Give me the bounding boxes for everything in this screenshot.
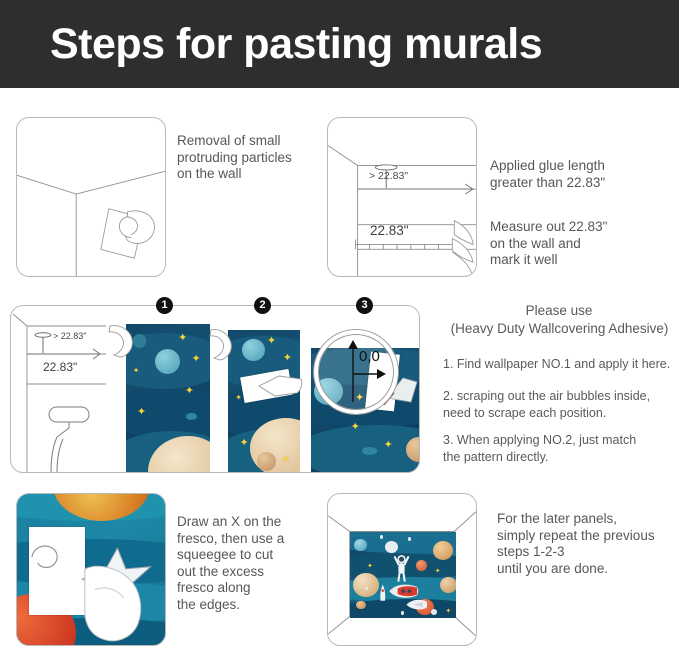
- measure-length-label-2: 22.83": [43, 359, 77, 376]
- instruction-item-2: 2. scraping out the air bubbles inside, …: [443, 388, 679, 421]
- instruction-item-1: 1. Find wallpaper NO.1 and apply it here…: [443, 356, 679, 373]
- instructions-heading-line2: (Heavy Duty Wallcovering Adhesive): [440, 321, 679, 338]
- min-length-label: > 22.83": [369, 168, 408, 185]
- panel-application-sequence: > 22.83" 22.83" ✦ ✦ ✦ ✦ ✦: [10, 305, 420, 473]
- header-bar: Steps for pasting murals: [0, 0, 679, 88]
- panel-finished-room: ✦ ✦ ✦: [327, 493, 477, 646]
- step-badge-3: 3: [356, 297, 373, 314]
- wall-measure-illustration: [328, 118, 476, 276]
- paint-roller-icon: [49, 407, 89, 472]
- astronaut-icon: [392, 553, 411, 584]
- panel-measuring: > 22.83" 22.83": [327, 117, 477, 277]
- mural-strip-2: ✦ ✦ ✦ ✦ ✦: [228, 330, 300, 472]
- origin-axes-icon: [314, 330, 392, 408]
- hand-icon-4: [76, 563, 159, 645]
- paper-curl-icon: [452, 221, 473, 274]
- instruction-sheet: Steps for pasting murals Removal of smal…: [0, 0, 679, 652]
- instructions-heading-line1: Please use: [443, 303, 675, 320]
- caption-measure-mark: Measure out 22.83" on the wall and mark …: [490, 219, 675, 269]
- room-mural-art: ✦ ✦ ✦: [350, 532, 456, 618]
- ruler-icon: [356, 239, 459, 249]
- caption-trim: Draw an X on the fresco, then use a sque…: [177, 514, 327, 613]
- caption-glue-length: Applied glue length greater than 22.83": [490, 158, 675, 191]
- t-marker-icon: [35, 333, 51, 353]
- wall-corner-illustration: [17, 118, 165, 276]
- mini-rocket-icon: [378, 584, 388, 603]
- page-title: Steps for pasting murals: [50, 17, 542, 71]
- instruction-item-3: 3. When applying NO.2, just match the pa…: [443, 432, 679, 465]
- caption-sanding: Removal of small protruding particles on…: [177, 133, 322, 183]
- measure-length-label: 22.83": [370, 223, 409, 240]
- panel-sanding: [16, 117, 166, 277]
- caption-repeat: For the later panels, simply repeat the …: [497, 511, 679, 577]
- mural-strip-1: ✦ ✦ ✦ ✦ ✦: [126, 324, 210, 472]
- trim-illustration: [17, 494, 165, 645]
- hand-icon-2: [207, 328, 235, 376]
- scraper-hand-icon: [257, 370, 303, 400]
- panel-trim: [16, 493, 166, 646]
- shuttle-icon: [405, 596, 428, 613]
- hand-icon-1: [106, 324, 136, 374]
- step-badge-1: 1: [156, 297, 173, 314]
- min-length-label-2: > 22.83": [53, 328, 86, 345]
- step-badge-2: 2: [254, 297, 271, 314]
